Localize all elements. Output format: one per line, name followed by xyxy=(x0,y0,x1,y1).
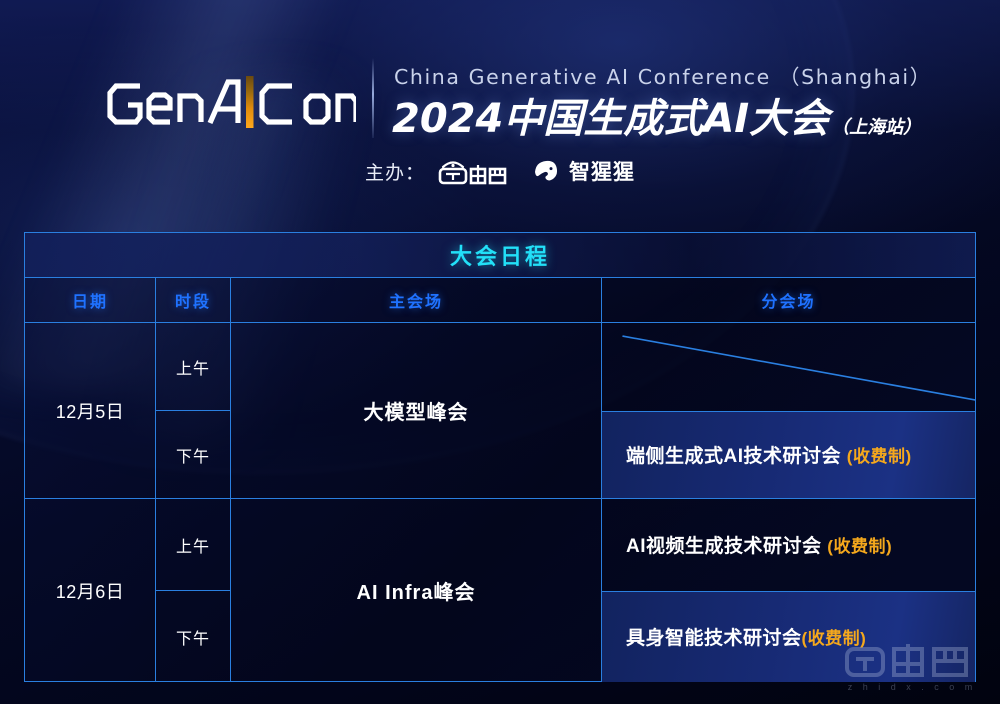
sub-venue-label: 端侧生成式AI技术研讨会 (收费制) xyxy=(626,441,912,468)
slot-morning: 上午 xyxy=(156,323,230,411)
cell-date: 12月5日 xyxy=(25,323,156,498)
slot-morning-label: 上午 xyxy=(176,355,210,379)
slot-morning-label: 上午 xyxy=(176,533,210,557)
slot-afternoon-label: 下午 xyxy=(176,625,210,649)
schedule-table: 大会日程 日期 时段 主会场 分会场 12月5日 上午 xyxy=(24,232,976,682)
column-header-date-label: 日期 xyxy=(72,288,108,312)
sub-venue-name: AI视频生成技术研讨会 xyxy=(626,536,822,557)
date-label: 12月6日 xyxy=(56,578,125,604)
sub-venue-label: AI视频生成技术研讨会 (收费制) xyxy=(626,531,892,558)
table-row: 12月6日 上午 下午 AI Infra峰会 AI视频生成技术研讨会 (收费制)… xyxy=(25,499,975,682)
cell-main-venue: AI Infra峰会 xyxy=(231,499,602,682)
slot-afternoon: 下午 xyxy=(156,411,230,498)
sub-venue-session: 具身智能技术研讨会(收费制) xyxy=(602,591,975,683)
poster-header: China Generative AI Conference （Shanghai… xyxy=(0,0,1000,215)
sub-venue-session: AI视频生成技术研讨会 (收费制) xyxy=(602,499,975,591)
empty-slash-icon xyxy=(602,323,975,411)
schedule-header-row: 日期 时段 主会场 分会场 xyxy=(25,278,975,323)
watermark-domain: z h i d x . c o m xyxy=(848,682,977,692)
schedule-title-bar: 大会日程 xyxy=(25,233,975,278)
sub-venue-name: 具身智能技术研讨会 xyxy=(626,628,802,649)
zhixingxing-brand: 智猩猩 xyxy=(531,156,635,186)
cell-sub-venues: AI视频生成技术研讨会 (收费制) 具身智能技术研讨会(收费制) xyxy=(602,499,975,682)
sub-venue-fee-badge: (收费制) xyxy=(827,537,892,556)
sub-venue-label: 具身智能技术研讨会(收费制) xyxy=(626,623,866,650)
date-label: 12月5日 xyxy=(56,398,125,424)
cell-main-venue: 大模型峰会 xyxy=(231,323,602,498)
host-label: 主办： xyxy=(365,158,425,185)
main-venue-label: AI Infra峰会 xyxy=(357,576,476,605)
conference-chinese-title-main: 2024中国生成式AI大会 xyxy=(392,86,829,144)
slot-afternoon-label: 下午 xyxy=(176,443,210,467)
zhixingxing-label: 智猩猩 xyxy=(569,156,635,186)
conference-chinese-title-city: （上海站） xyxy=(831,113,921,144)
genaicon-logo xyxy=(106,72,356,134)
column-header-slot-label: 时段 xyxy=(175,288,211,312)
column-header-slot: 时段 xyxy=(156,278,231,322)
sub-venue-fee-badge: (收费制) xyxy=(802,629,867,648)
sub-venue-empty xyxy=(602,323,975,411)
cell-slots: 上午 下午 xyxy=(156,499,231,682)
column-header-main-venue-label: 主会场 xyxy=(389,288,443,312)
column-header-sub-venue: 分会场 xyxy=(602,278,975,322)
ape-icon xyxy=(531,156,561,186)
header-divider xyxy=(372,58,374,138)
cell-slots: 上午 下午 xyxy=(156,323,231,498)
zhidongxi-logo-mark xyxy=(435,156,507,186)
column-header-sub-venue-label: 分会场 xyxy=(761,288,815,312)
slot-morning: 上午 xyxy=(156,499,230,591)
poster-canvas: China Generative AI Conference （Shanghai… xyxy=(0,0,1000,704)
column-header-main-venue: 主会场 xyxy=(231,278,602,322)
table-row: 12月5日 上午 下午 大模型峰会 端侧生成 xyxy=(25,323,975,499)
schedule-title: 大会日程 xyxy=(450,239,550,271)
zhidongxi-logo xyxy=(435,156,507,186)
genaicon-logo-mark xyxy=(106,72,356,134)
main-venue-label: 大模型峰会 xyxy=(364,396,469,425)
sub-venue-name: 端侧生成式AI技术研讨会 xyxy=(626,446,841,467)
cell-date: 12月6日 xyxy=(25,499,156,682)
cell-sub-venues: 端侧生成式AI技术研讨会 (收费制) xyxy=(602,323,975,498)
sub-venue-session: 端侧生成式AI技术研讨会 (收费制) xyxy=(602,411,975,499)
column-header-date: 日期 xyxy=(25,278,156,322)
conference-chinese-title: 2024中国生成式AI大会 （上海站） xyxy=(392,86,921,144)
sub-venue-fee-badge: (收费制) xyxy=(847,447,912,466)
host-row: 主办： 智猩猩 xyxy=(0,156,1000,186)
slot-afternoon: 下午 xyxy=(156,591,230,682)
